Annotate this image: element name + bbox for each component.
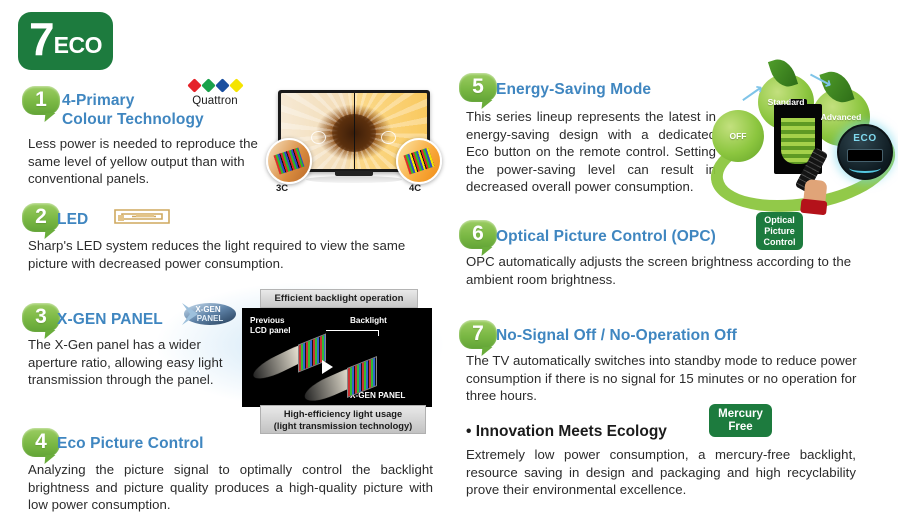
label-backlight: Backlight bbox=[350, 316, 387, 326]
feature-title-3: X-GEN PANEL bbox=[57, 310, 163, 329]
quattron-logo: Quattron bbox=[175, 79, 255, 107]
feature-body-6: OPC automatically adjusts the screen bri… bbox=[466, 253, 858, 288]
feature-number-7: 7 bbox=[472, 323, 484, 344]
seven-eco-logo: 7 ECO bbox=[18, 12, 113, 70]
magnifier-4c bbox=[396, 138, 442, 184]
tv-label-3c: 3C bbox=[276, 183, 288, 194]
screen-split-line bbox=[354, 93, 355, 169]
opc-badge-line2: Picture bbox=[764, 226, 795, 237]
xgen-logo-svg: X-GEN PANEL bbox=[180, 297, 238, 331]
mercury-badge-line1: Mercury bbox=[718, 408, 763, 421]
tv-base bbox=[306, 176, 402, 183]
quattron-diamonds bbox=[175, 79, 255, 93]
logo-word: ECO bbox=[54, 34, 102, 57]
eco-dial-arc bbox=[849, 163, 881, 173]
diamond-yellow bbox=[229, 78, 243, 92]
pixel-pattern-3c bbox=[274, 147, 305, 174]
eco-button-dial: ECO bbox=[837, 124, 893, 180]
bottom-caption-line1: High-efficiency light usage bbox=[284, 408, 402, 420]
diamond-blue bbox=[215, 78, 229, 92]
feature-number-5: 5 bbox=[472, 76, 484, 97]
feature-title-7: No-Signal Off / No-Operation Off bbox=[496, 326, 737, 345]
tv-label-4c: 4C bbox=[409, 183, 421, 194]
feature-title-6: Optical Picture Control (OPC) bbox=[496, 227, 716, 246]
quattron-label: Quattron bbox=[175, 95, 255, 107]
feature-body-2: Sharp's LED system reduces the light req… bbox=[28, 237, 433, 272]
logo-number: 7 bbox=[29, 16, 53, 62]
eco-features-page: 7 ECO 1 4-Primary Colour Technology Less… bbox=[0, 0, 898, 526]
leaf-icon-standard bbox=[768, 55, 798, 90]
level-label-standard: Standard bbox=[768, 97, 805, 107]
feature-body-3: The X-Gen panel has a wider aperture rat… bbox=[28, 336, 228, 389]
bottom-caption-line2: (light transmission technology) bbox=[274, 420, 412, 432]
feature-number-2: 2 bbox=[35, 206, 47, 227]
feature-bubble-3: 3 bbox=[22, 303, 60, 332]
innovation-body: Extremely low power consumption, a mercu… bbox=[466, 446, 856, 499]
xgen-diagram-illustration: Previous LCD panel Backlight X-GEN PANEL bbox=[242, 308, 432, 407]
level-label-off: OFF bbox=[730, 131, 747, 141]
mercury-badge-line2: Free bbox=[728, 421, 752, 434]
highlight-circle-right bbox=[381, 131, 396, 144]
led-logo bbox=[112, 206, 172, 228]
feature-number-4: 4 bbox=[35, 431, 47, 452]
badge-optical-picture-control: Optical Picture Control bbox=[756, 212, 803, 250]
diamond-red bbox=[187, 78, 201, 92]
opc-badge-line3: Control bbox=[764, 237, 796, 248]
diamond-green bbox=[201, 78, 215, 92]
feature-bubble-1: 1 bbox=[22, 86, 60, 115]
feature-body-7: The TV automatically switches into stand… bbox=[466, 352, 858, 405]
feature-bubble-5: 5 bbox=[459, 73, 497, 102]
eco-dial-bar bbox=[847, 149, 883, 162]
feature-title-4: Eco Picture Control bbox=[57, 434, 204, 453]
feature-body-4: Analyzing the picture signal to optimall… bbox=[28, 461, 433, 514]
feature-bubble-7: 7 bbox=[459, 320, 497, 349]
svg-text:PANEL: PANEL bbox=[197, 314, 224, 323]
feature-bubble-6: 6 bbox=[459, 220, 497, 249]
feature-bubble-2: 2 bbox=[22, 203, 60, 232]
svg-text:X-GEN: X-GEN bbox=[195, 305, 221, 314]
eco-dial-label: ECO bbox=[839, 133, 891, 144]
pixel-pattern-4c bbox=[404, 147, 435, 174]
level-ball-off: OFF bbox=[712, 110, 764, 162]
feature-title-5: Energy-Saving Mode bbox=[496, 80, 651, 99]
transition-arrow-icon bbox=[322, 360, 333, 374]
hand-holding-remote bbox=[802, 179, 827, 211]
opc-badge-line1: Optical bbox=[764, 215, 795, 226]
xgen-panel-logo: X-GEN PANEL bbox=[180, 297, 238, 331]
badge-mercury-free: Mercury Free bbox=[709, 404, 772, 437]
magnifier-3c bbox=[266, 138, 312, 184]
innovation-title: • Innovation Meets Ecology bbox=[466, 422, 667, 441]
xgen-diagram-top-caption: Efficient backlight operation bbox=[260, 289, 418, 308]
level-label-advanced: Advanced bbox=[821, 112, 862, 122]
feature-body-1: Less power is needed to reproduce the sa… bbox=[28, 135, 260, 188]
feature-title-2: LED bbox=[57, 210, 88, 229]
highlight-circle-left bbox=[311, 131, 326, 144]
xgen-diagram: Efficient backlight operation Previous L… bbox=[238, 289, 443, 435]
tv-comparison-image: 3C 4C bbox=[266, 90, 442, 195]
feature-bubble-4: 4 bbox=[22, 428, 60, 457]
xgen-diagram-bottom-caption: High-efficiency light usage (light trans… bbox=[260, 405, 426, 434]
feature-number-1: 1 bbox=[35, 89, 47, 110]
label-previous-lcd-panel: Previous LCD panel bbox=[250, 316, 291, 336]
feature-number-3: 3 bbox=[35, 306, 47, 327]
feature-number-6: 6 bbox=[472, 223, 484, 244]
energy-saving-illustration: OFF Standard Advanced ⟶ ⟶ ECO bbox=[712, 62, 898, 207]
feature-body-5: This series lineup represents the latest… bbox=[466, 108, 716, 196]
led-logo-svg bbox=[112, 206, 172, 228]
